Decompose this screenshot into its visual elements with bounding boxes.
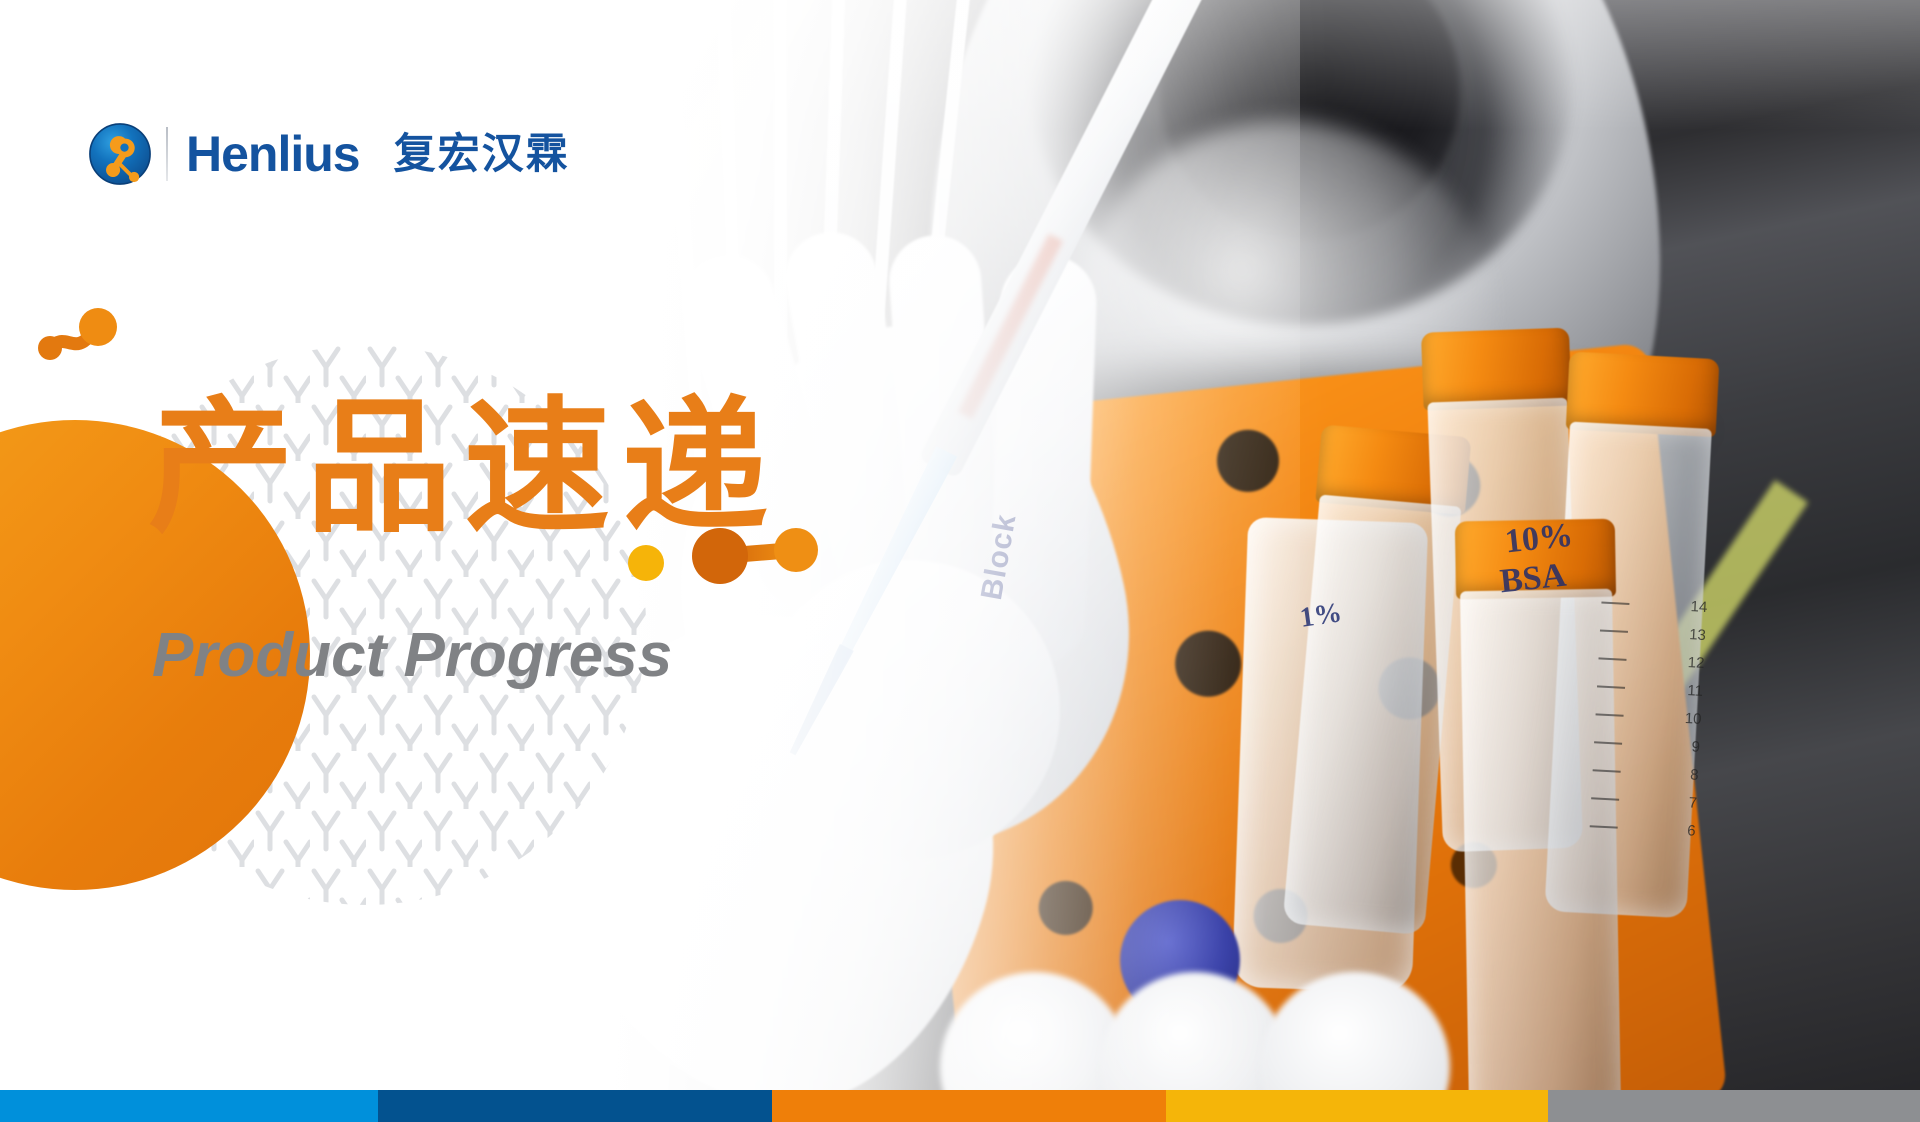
brand-name-cn: 复宏汉霖 xyxy=(394,133,570,175)
logo-divider xyxy=(166,127,168,181)
slide-root: 14 13 12 11 10 9 8 7 6 xyxy=(0,0,1920,1122)
brand-logo[interactable]: Henlius 复宏汉霖 xyxy=(88,122,570,186)
colorbar-segment-grey xyxy=(1548,1090,1920,1122)
page-title-cn: 产品速递 xyxy=(148,382,780,554)
colorbar-segment-orange xyxy=(772,1090,1166,1122)
bottom-color-bar xyxy=(0,1090,1920,1122)
page-subtitle-en: Product Progress xyxy=(152,625,672,687)
henlius-molecule-logo-icon xyxy=(88,122,152,186)
tube-graduation-marks: 14 13 12 11 10 9 8 7 6 xyxy=(1576,597,1713,933)
molecule-dumbbell-small xyxy=(30,300,140,395)
colorbar-segment-dark-blue xyxy=(378,1090,772,1122)
colorbar-segment-amber xyxy=(1166,1090,1548,1122)
tube-handwritten-label: 10% xyxy=(1503,517,1575,562)
tube-handwritten-label: 1% xyxy=(1298,597,1344,635)
colorbar-segment-light-blue xyxy=(0,1090,378,1122)
tube-handwritten-label: BSA xyxy=(1498,557,1568,602)
brand-name-en: Henlius xyxy=(186,129,360,179)
